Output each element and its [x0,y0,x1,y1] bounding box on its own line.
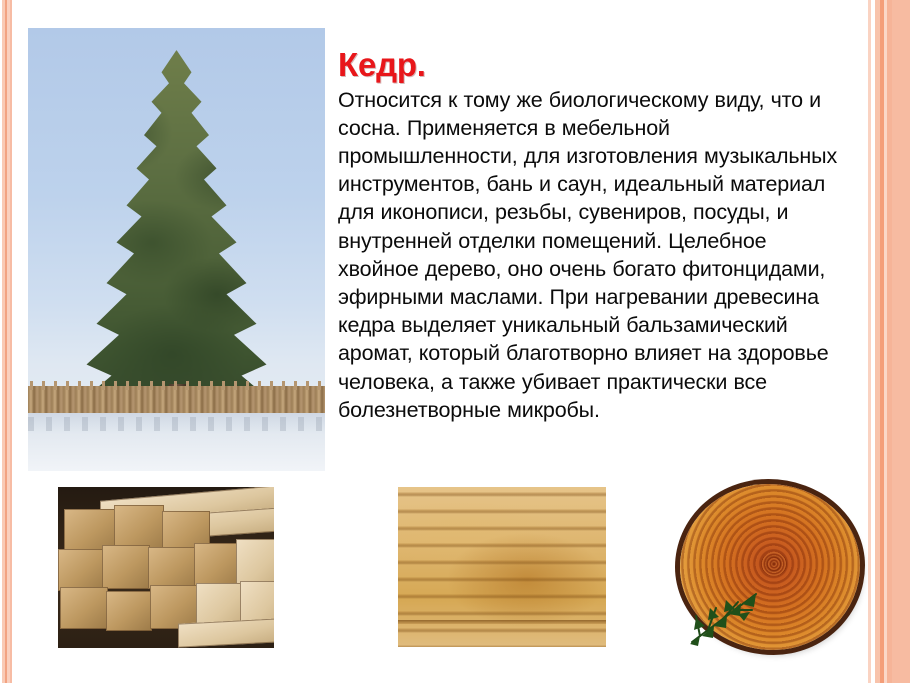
slide-canvas: Кедр. Относится к тому же биологическому… [0,0,910,683]
timber-beam [106,591,152,631]
border-stripe [5,0,7,683]
body-paragraph: Относится к тому же биологическому виду,… [338,86,852,424]
border-stripe [871,0,875,683]
text-column: Кедр. Относится к тому же биологическому… [338,48,852,424]
timber-beam [58,549,104,591]
border-stripe [880,0,884,683]
border-stripe [12,0,16,683]
border-stripe [0,0,2,683]
border-stripe [875,0,880,683]
border-stripe [887,0,892,683]
timber-beam [102,545,150,589]
right-border-decoration [860,0,910,683]
cedar-tree-photo [28,28,325,471]
left-border-decoration [0,0,16,683]
border-stripe [2,0,5,683]
timber-beam [60,587,108,629]
cedar-sprig-icon [682,584,768,646]
border-stripe [10,0,12,683]
border-stripe [7,0,10,683]
log-cross-section-photo [676,482,866,654]
border-stripe [868,0,871,683]
snow-ground [28,413,325,471]
border-stripe [892,0,910,683]
timber-beam [178,618,274,647]
log-pith-center [761,552,787,576]
timber-beam [236,539,274,587]
wood-grain-texture [398,487,606,647]
timber-beam [148,547,196,589]
lumber-stack-photo [58,487,274,648]
page-title: Кедр. [338,48,852,82]
border-stripe [884,0,887,683]
wood-plank-photo [398,487,606,647]
timber-beam [194,543,240,587]
